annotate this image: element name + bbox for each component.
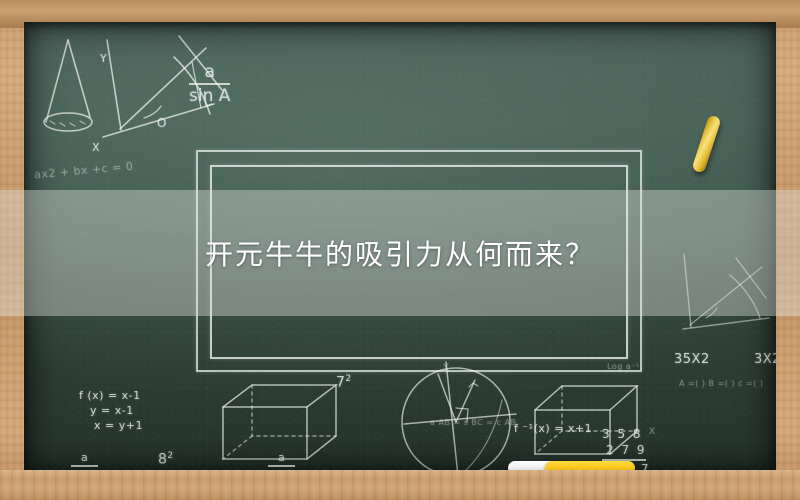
fraction-a-over-sinA-topleft: a sin A xyxy=(189,62,230,106)
fraction-a-over-sinA-bottomleft-1: a sin A xyxy=(71,451,98,472)
fraction-numerator: a xyxy=(71,451,98,464)
function-x-line: x = y+1 xyxy=(94,419,143,432)
fraction-bar xyxy=(71,465,98,467)
circle-diagram xyxy=(402,362,516,472)
fraction-a-over-sinA-bottomleft-2: a sin A xyxy=(268,451,295,472)
cube-left xyxy=(223,385,336,459)
seven-exponent: 2 xyxy=(345,374,351,384)
wooden-frame: a sin A Y X O ax2 + bx +c = 0 f (x) = x-… xyxy=(0,0,800,500)
angle-label-o: O xyxy=(157,116,167,130)
function-y-line: y = x-1 xyxy=(90,404,134,417)
circle-arc xyxy=(462,400,502,472)
fraction-denominator: sin A xyxy=(189,86,230,106)
circle-axis-x: X xyxy=(649,427,656,437)
cone-left-edge xyxy=(46,40,68,122)
page-title: 开元牛牛的吸引力从何而来？ xyxy=(0,190,800,316)
subtraction-minuend: 3 5 8 xyxy=(602,427,643,441)
cone-hatch xyxy=(50,121,85,126)
fraction-bar xyxy=(189,83,230,85)
seven-squared: 72 xyxy=(336,374,352,391)
cone-base-ellipse xyxy=(44,113,92,131)
faint-ratio-note: a AB = s BC = c AB xyxy=(430,418,517,427)
chalk-tray-ledge xyxy=(0,470,800,500)
axis-label-x: X xyxy=(92,141,100,154)
eight-squared: 82 xyxy=(158,451,174,468)
eight-base: 8 xyxy=(158,452,167,468)
ledge-wood-grain xyxy=(0,470,800,500)
axis-y-line xyxy=(107,40,121,130)
function-definition: f (x) = x-1 xyxy=(79,389,141,402)
seven-base: 7 xyxy=(336,375,345,391)
subtraction-subtrahend: 2 7 9 xyxy=(606,443,647,457)
fraction-numerator: a xyxy=(268,451,295,464)
eight-exponent: 2 xyxy=(167,451,173,461)
cone-right-edge xyxy=(68,40,90,117)
axis-label-y: Y xyxy=(100,52,107,65)
multiplication-note-2: 3X2 xyxy=(754,352,776,367)
inverse-function: f ⁻¹(x) = x+1 xyxy=(514,422,592,435)
circle-radius-1 xyxy=(438,374,456,422)
multiplication-note-1: 35X2 xyxy=(674,352,710,367)
chalk-stick-yellow-wall[interactable] xyxy=(691,114,721,173)
quadratic-equation: ax2 + bx +c = 0 xyxy=(34,160,134,182)
fraction-bar xyxy=(268,465,295,467)
circle-radius-2 xyxy=(456,380,475,422)
fraction-numerator: a xyxy=(189,62,230,82)
circle-axis-y-line xyxy=(446,362,458,472)
matrix-note: A =( ) B =( ) c =( ) xyxy=(679,379,764,388)
